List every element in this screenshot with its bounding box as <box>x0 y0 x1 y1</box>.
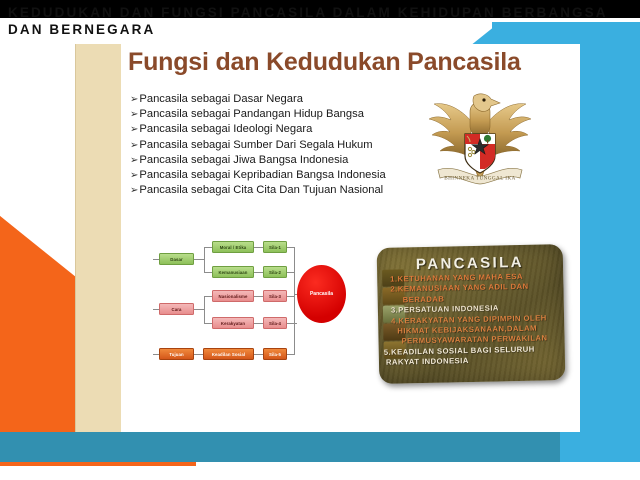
slide-title: Fungsi dan Kedudukan Pancasila <box>128 48 521 77</box>
list-item-label: Pancasila sebagai Cita Cita Dan Tujuan N… <box>139 183 383 198</box>
arrow-bullet-icon: ➢ <box>130 138 138 153</box>
pancasila-flow-diagram: Dasar Moral / Etika Sila-1 Kemanusiaan S… <box>150 235 355 370</box>
diagram-category-box: Tujuan <box>159 348 194 360</box>
diagram-concept-box: Keadilan Sosial <box>203 348 254 360</box>
slide-canvas: KEDUDUKAN DAN FUNGSI PANCASILA DALAM KEH… <box>0 0 640 480</box>
list-item-label: Pancasila sebagai Kepribadian Bangsa Ind… <box>139 168 385 183</box>
diagram-sila-box: Sila-4 <box>263 317 287 329</box>
diagram-category-box: Cara <box>159 303 194 315</box>
diagram-sila-box: Sila-1 <box>263 241 287 253</box>
garuda-motto-text: BHINNEKA TUNGGAL IKA <box>444 176 515 182</box>
diagram-concept-box: Kemanusiaan <box>212 266 254 278</box>
arrow-bullet-icon: ➢ <box>130 153 138 168</box>
diagram-sila-box: Sila-2 <box>263 266 287 278</box>
list-item-label: Pancasila sebagai Jiwa Bangsa Indonesia <box>139 153 348 168</box>
page-heading: KEDUDUKAN DAN FUNGSI PANCASILA DALAM KEH… <box>8 4 632 38</box>
arrow-bullet-icon: ➢ <box>130 183 138 198</box>
list-item: ➢ Pancasila sebagai Jiwa Bangsa Indonesi… <box>130 153 420 168</box>
list-item: ➢ Pancasila sebagai Pandangan Hidup Bang… <box>130 107 420 122</box>
plaque-principles-list: 1.KETUHANAN YANG MAHA ESA 2.KEMANUSIAAN … <box>390 271 557 368</box>
list-item: ➢ Pancasila sebagai Ideologi Negara <box>130 122 420 137</box>
bullet-list: ➢ Pancasila sebagai Dasar Negara ➢ Panca… <box>130 92 420 198</box>
diagram-sila-box: Sila-3 <box>263 290 287 302</box>
arrow-bullet-icon: ➢ <box>130 92 138 107</box>
diagram-concept-box: Kerakyatan <box>212 317 254 329</box>
arrow-bullet-icon: ➢ <box>130 122 138 137</box>
diagram-category-box: Dasar <box>159 253 194 265</box>
list-item-label: Pancasila sebagai Pandangan Hidup Bangsa <box>139 107 364 122</box>
list-item-label: Pancasila sebagai Sumber Dari Segala Huk… <box>139 138 372 153</box>
diagram-center-ellipse: Pancasila <box>297 265 346 323</box>
decoration-teal-bottom-band <box>0 432 560 462</box>
arrow-bullet-icon: ➢ <box>130 107 138 122</box>
list-item-label: Pancasila sebagai Dasar Negara <box>139 92 303 107</box>
garuda-pancasila-icon: BHINNEKA TUNGGAL IKA <box>424 86 536 192</box>
diagram-concept-box: Nasionalisme <box>212 290 254 302</box>
diagram-sila-box: Sila-5 <box>263 348 287 360</box>
list-item: ➢ Pancasila sebagai Dasar Negara <box>130 92 420 107</box>
pancasila-wooden-plaque: PANCASILA 1.KETUHANAN YANG MAHA ESA 2.KE… <box>377 244 566 384</box>
diagram-concept-box: Moral / Etika <box>212 241 254 253</box>
arrow-bullet-icon: ➢ <box>130 168 138 183</box>
list-item: ➢ Pancasila sebagai Cita Cita Dan Tujuan… <box>130 183 420 198</box>
list-item: ➢ Pancasila sebagai Sumber Dari Segala H… <box>130 138 420 153</box>
decoration-beige-column <box>75 44 121 432</box>
list-item-label: Pancasila sebagai Ideologi Negara <box>139 122 312 137</box>
list-item: ➢ Pancasila sebagai Kepribadian Bangsa I… <box>130 168 420 183</box>
